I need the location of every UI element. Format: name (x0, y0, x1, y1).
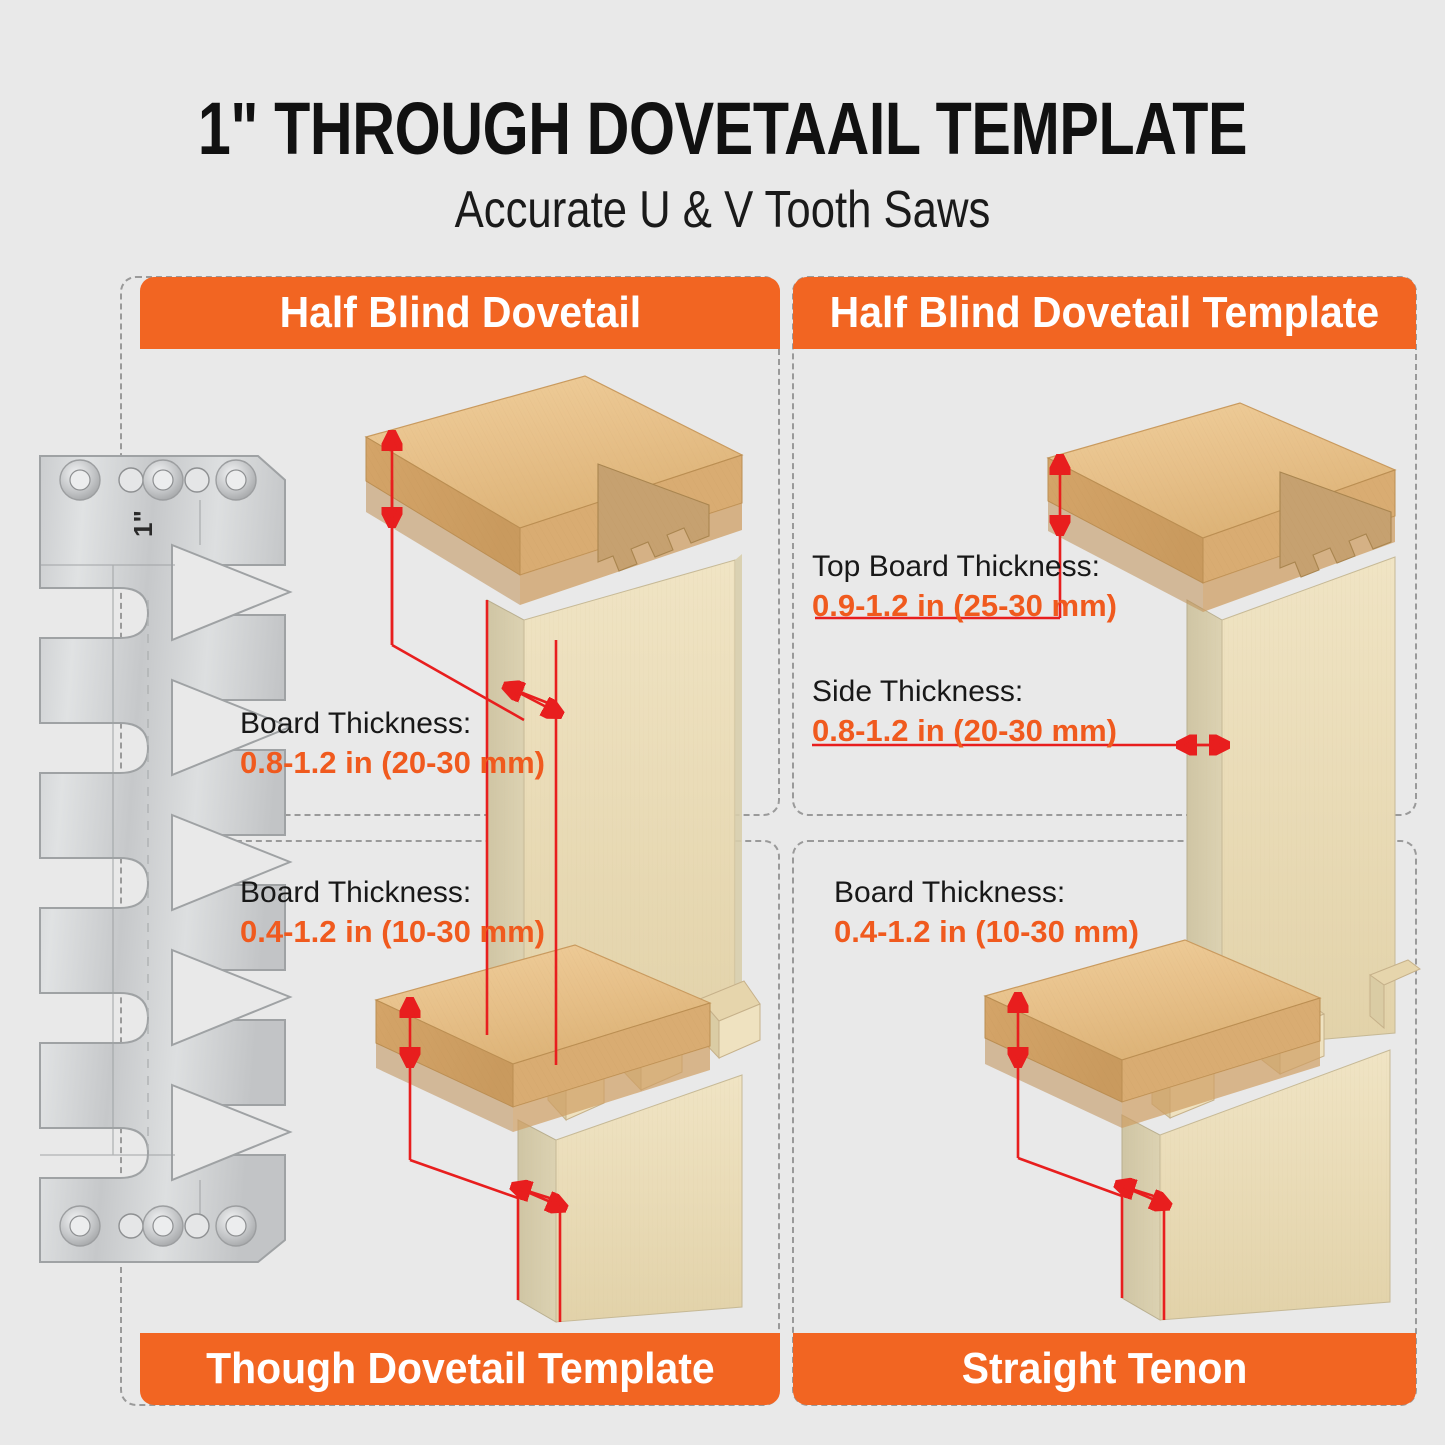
annotation-label: Board Thickness: (240, 874, 545, 912)
panel-header-label: Half Blind Dovetail Template (830, 288, 1379, 338)
panel-header-label: Half Blind Dovetail (279, 288, 641, 338)
annotation-value: 0.9-1.2 in (25-30 mm) (812, 586, 1117, 626)
annotation-value: 0.4-1.2 in (10-30 mm) (240, 912, 545, 952)
page-title: 1" THROUGH DOVETAAIL TEMPLATE (145, 92, 1301, 166)
panel-header-label: Though Dovetail Template (206, 1344, 715, 1394)
annotation-board-thickness-bl: Board Thickness: 0.4-1.2 in (10-30 mm) (240, 874, 545, 952)
annotation-label: Board Thickness: (240, 705, 545, 743)
annotation-value: 0.8-1.2 in (20-30 mm) (812, 711, 1117, 751)
annotation-top-board-thickness-tr: Top Board Thickness: 0.9-1.2 in (25-30 m… (812, 548, 1117, 626)
annotation-board-thickness-tl: Board Thickness: 0.8-1.2 in (20-30 mm) (240, 705, 545, 783)
panel-header-half-blind-dovetail: Half Blind Dovetail (140, 277, 780, 349)
annotation-side-thickness-tr: Side Thickness: 0.8-1.2 in (20-30 mm) (812, 673, 1117, 751)
page-subtitle: Accurate U & V Tooth Saws (116, 182, 1330, 239)
panel-header-though-dovetail-template: Though Dovetail Template (140, 1333, 780, 1405)
countersunk-hole (60, 460, 100, 500)
annotation-value: 0.4-1.2 in (10-30 mm) (834, 912, 1139, 952)
panel-header-half-blind-dovetail-template: Half Blind Dovetail Template (793, 277, 1416, 349)
annotation-label: Top Board Thickness: (812, 548, 1117, 586)
panel-header-label: Straight Tenon (962, 1344, 1248, 1394)
countersunk-hole (60, 1206, 100, 1246)
annotation-value: 0.8-1.2 in (20-30 mm) (240, 743, 545, 783)
panel-header-straight-tenon: Straight Tenon (793, 1333, 1416, 1405)
annotation-label: Board Thickness: (834, 874, 1139, 912)
annotation-board-thickness-br: Board Thickness: 0.4-1.2 in (10-30 mm) (834, 874, 1139, 952)
annotation-label: Side Thickness: (812, 673, 1117, 711)
